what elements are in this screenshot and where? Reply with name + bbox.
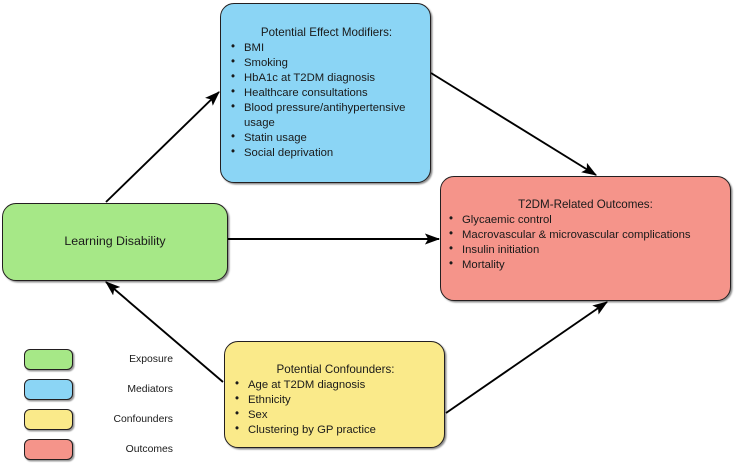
node-outcomes[interactable]: T2DM-Related Outcomes: Glycaemic control… [440, 176, 731, 301]
node-mediators-title: Potential Effect Modifiers: [229, 26, 424, 41]
list-item: Mortality [447, 258, 724, 273]
legend-row-confounders: Confounders [24, 408, 174, 430]
legend-label-confounders: Confounders [73, 414, 174, 425]
legend-row-mediators: Mediators [24, 378, 174, 400]
list-item: Smoking [229, 56, 424, 71]
node-confounders-title: Potential Confounders: [233, 363, 438, 378]
node-outcomes-title: T2DM-Related Outcomes: [447, 198, 724, 213]
legend-label-exposure: Exposure [73, 354, 174, 365]
arrow-exposure-to-mediators [106, 92, 219, 202]
list-item: BMI [229, 41, 424, 56]
list-item: Statin usage [229, 131, 424, 146]
diagram-canvas: Learning Disability Potential Effect Mod… [0, 0, 735, 463]
legend-swatch-mediators [24, 379, 73, 400]
node-outcomes-list: Glycaemic control Macrovascular & microv… [447, 213, 724, 273]
list-item: Clustering by GP practice [233, 423, 438, 438]
list-item: Glycaemic control [447, 213, 724, 228]
arrow-mediators-to-outcomes [431, 73, 596, 175]
legend: Exposure Mediators Confounders Outcomes [24, 348, 174, 463]
node-exposure[interactable]: Learning Disability [2, 203, 228, 281]
list-item: Age at T2DM diagnosis [233, 378, 438, 393]
node-mediators[interactable]: Potential Effect Modifiers: BMI Smoking … [220, 3, 431, 183]
node-mediators-list: BMI Smoking HbA1c at T2DM diagnosis Heal… [229, 41, 424, 161]
legend-row-exposure: Exposure [24, 348, 174, 370]
node-exposure-title: Learning Disability [64, 234, 165, 250]
legend-swatch-outcomes [24, 439, 73, 460]
node-confounders[interactable]: Potential Confounders: Age at T2DM diagn… [224, 341, 445, 448]
legend-row-outcomes: Outcomes [24, 438, 174, 460]
node-confounders-list: Age at T2DM diagnosis Ethnicity Sex Clus… [233, 378, 438, 438]
list-item: Insulin initiation [447, 243, 724, 258]
legend-label-outcomes: Outcomes [73, 444, 174, 455]
legend-label-mediators: Mediators [73, 384, 174, 395]
legend-swatch-confounders [24, 409, 73, 430]
list-item: Ethnicity [233, 393, 438, 408]
list-item-continuation: usage [229, 116, 424, 131]
legend-swatch-exposure [24, 349, 73, 370]
list-item: HbA1c at T2DM diagnosis [229, 71, 424, 86]
list-item: Blood pressure/antihypertensive [229, 101, 424, 116]
list-item: Sex [233, 408, 438, 423]
list-item: Social deprivation [229, 146, 424, 161]
list-item: Healthcare consultations [229, 86, 424, 101]
arrow-confounders-to-outcomes [446, 302, 607, 413]
list-item: Macrovascular & microvascular complicati… [447, 228, 724, 243]
